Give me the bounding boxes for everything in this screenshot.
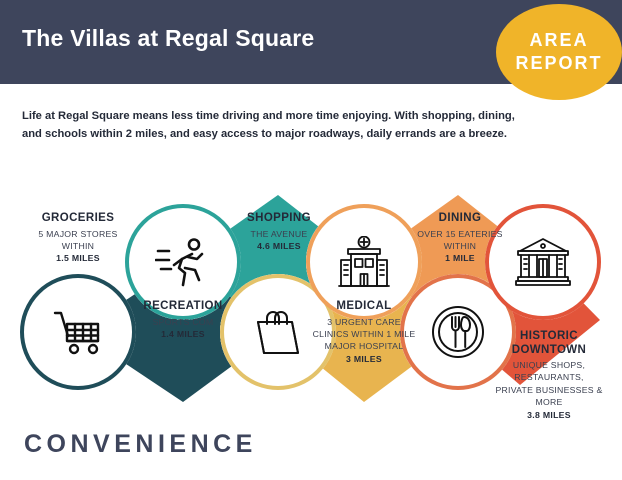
node-groceries[interactable] — [20, 274, 136, 390]
label-medical-title: MEDICAL — [296, 300, 432, 314]
badge-line-1: AREA — [529, 29, 588, 52]
running-person-icon — [155, 237, 211, 287]
label-historic-downtown-distance: 3.8 MILES — [481, 409, 617, 421]
label-recreation: RECREATION SPORTS COM 1.4 MILES — [123, 300, 243, 340]
label-groceries-sub: 5 MAJOR STORESWITHIN — [20, 228, 136, 253]
bank-building-icon — [514, 237, 572, 287]
label-dining-sub: OVER 15 EATERIESWITHIN — [402, 228, 518, 253]
label-recreation-sub: SPORTS COM — [123, 316, 243, 328]
label-shopping-distance: 4.6 MILES — [222, 240, 336, 252]
label-medical-sub: 3 URGENT CARECLINICS WITHIN 1 MILEMAJOR … — [296, 316, 432, 353]
label-recreation-title: RECREATION — [123, 300, 243, 314]
label-shopping: SHOPPING THE AVENUE 4.6 MILES — [222, 212, 336, 252]
label-historic-downtown-sub: UNIQUE SHOPS,RESTAURANTS,PRIVATE BUSINES… — [481, 359, 617, 408]
page-title: The Villas at Regal Square — [22, 25, 314, 52]
intro-paragraph: Life at Regal Square means less time dri… — [22, 107, 530, 143]
badge-line-2: REPORT — [515, 52, 602, 75]
label-shopping-title: SHOPPING — [222, 212, 336, 226]
label-groceries-title: GROCERIES — [20, 212, 136, 226]
label-medical-distance: 3 MILES — [296, 353, 432, 365]
label-shopping-sub: THE AVENUE — [222, 228, 336, 240]
label-recreation-distance: 1.4 MILES — [123, 328, 243, 340]
label-groceries: GROCERIES 5 MAJOR STORESWITHIN 1.5 MILES — [20, 212, 136, 265]
label-historic-downtown: HISTORICDOWNTOWN UNIQUE SHOPS,RESTAURANT… — [481, 330, 617, 421]
label-dining-distance: 1 MILE — [402, 252, 518, 264]
label-dining: DINING OVER 15 EATERIESWITHIN 1 MILE — [402, 212, 518, 265]
label-groceries-distance: 1.5 MILES — [20, 252, 136, 264]
label-dining-title: DINING — [402, 212, 518, 226]
label-historic-downtown-title: HISTORICDOWNTOWN — [481, 330, 617, 357]
plate-fork-spoon-icon — [431, 305, 485, 359]
shopping-cart-icon — [51, 308, 105, 356]
label-medical: MEDICAL 3 URGENT CARECLINICS WITHIN 1 MI… — [296, 300, 432, 365]
area-report-badge: AREA REPORT — [496, 4, 622, 100]
amenities-infographic: GROCERIES 5 MAJOR STORESWITHIN 1.5 MILES… — [0, 170, 622, 425]
footer-headline: CONVENIENCE — [24, 430, 257, 459]
hospital-building-icon — [336, 236, 392, 288]
